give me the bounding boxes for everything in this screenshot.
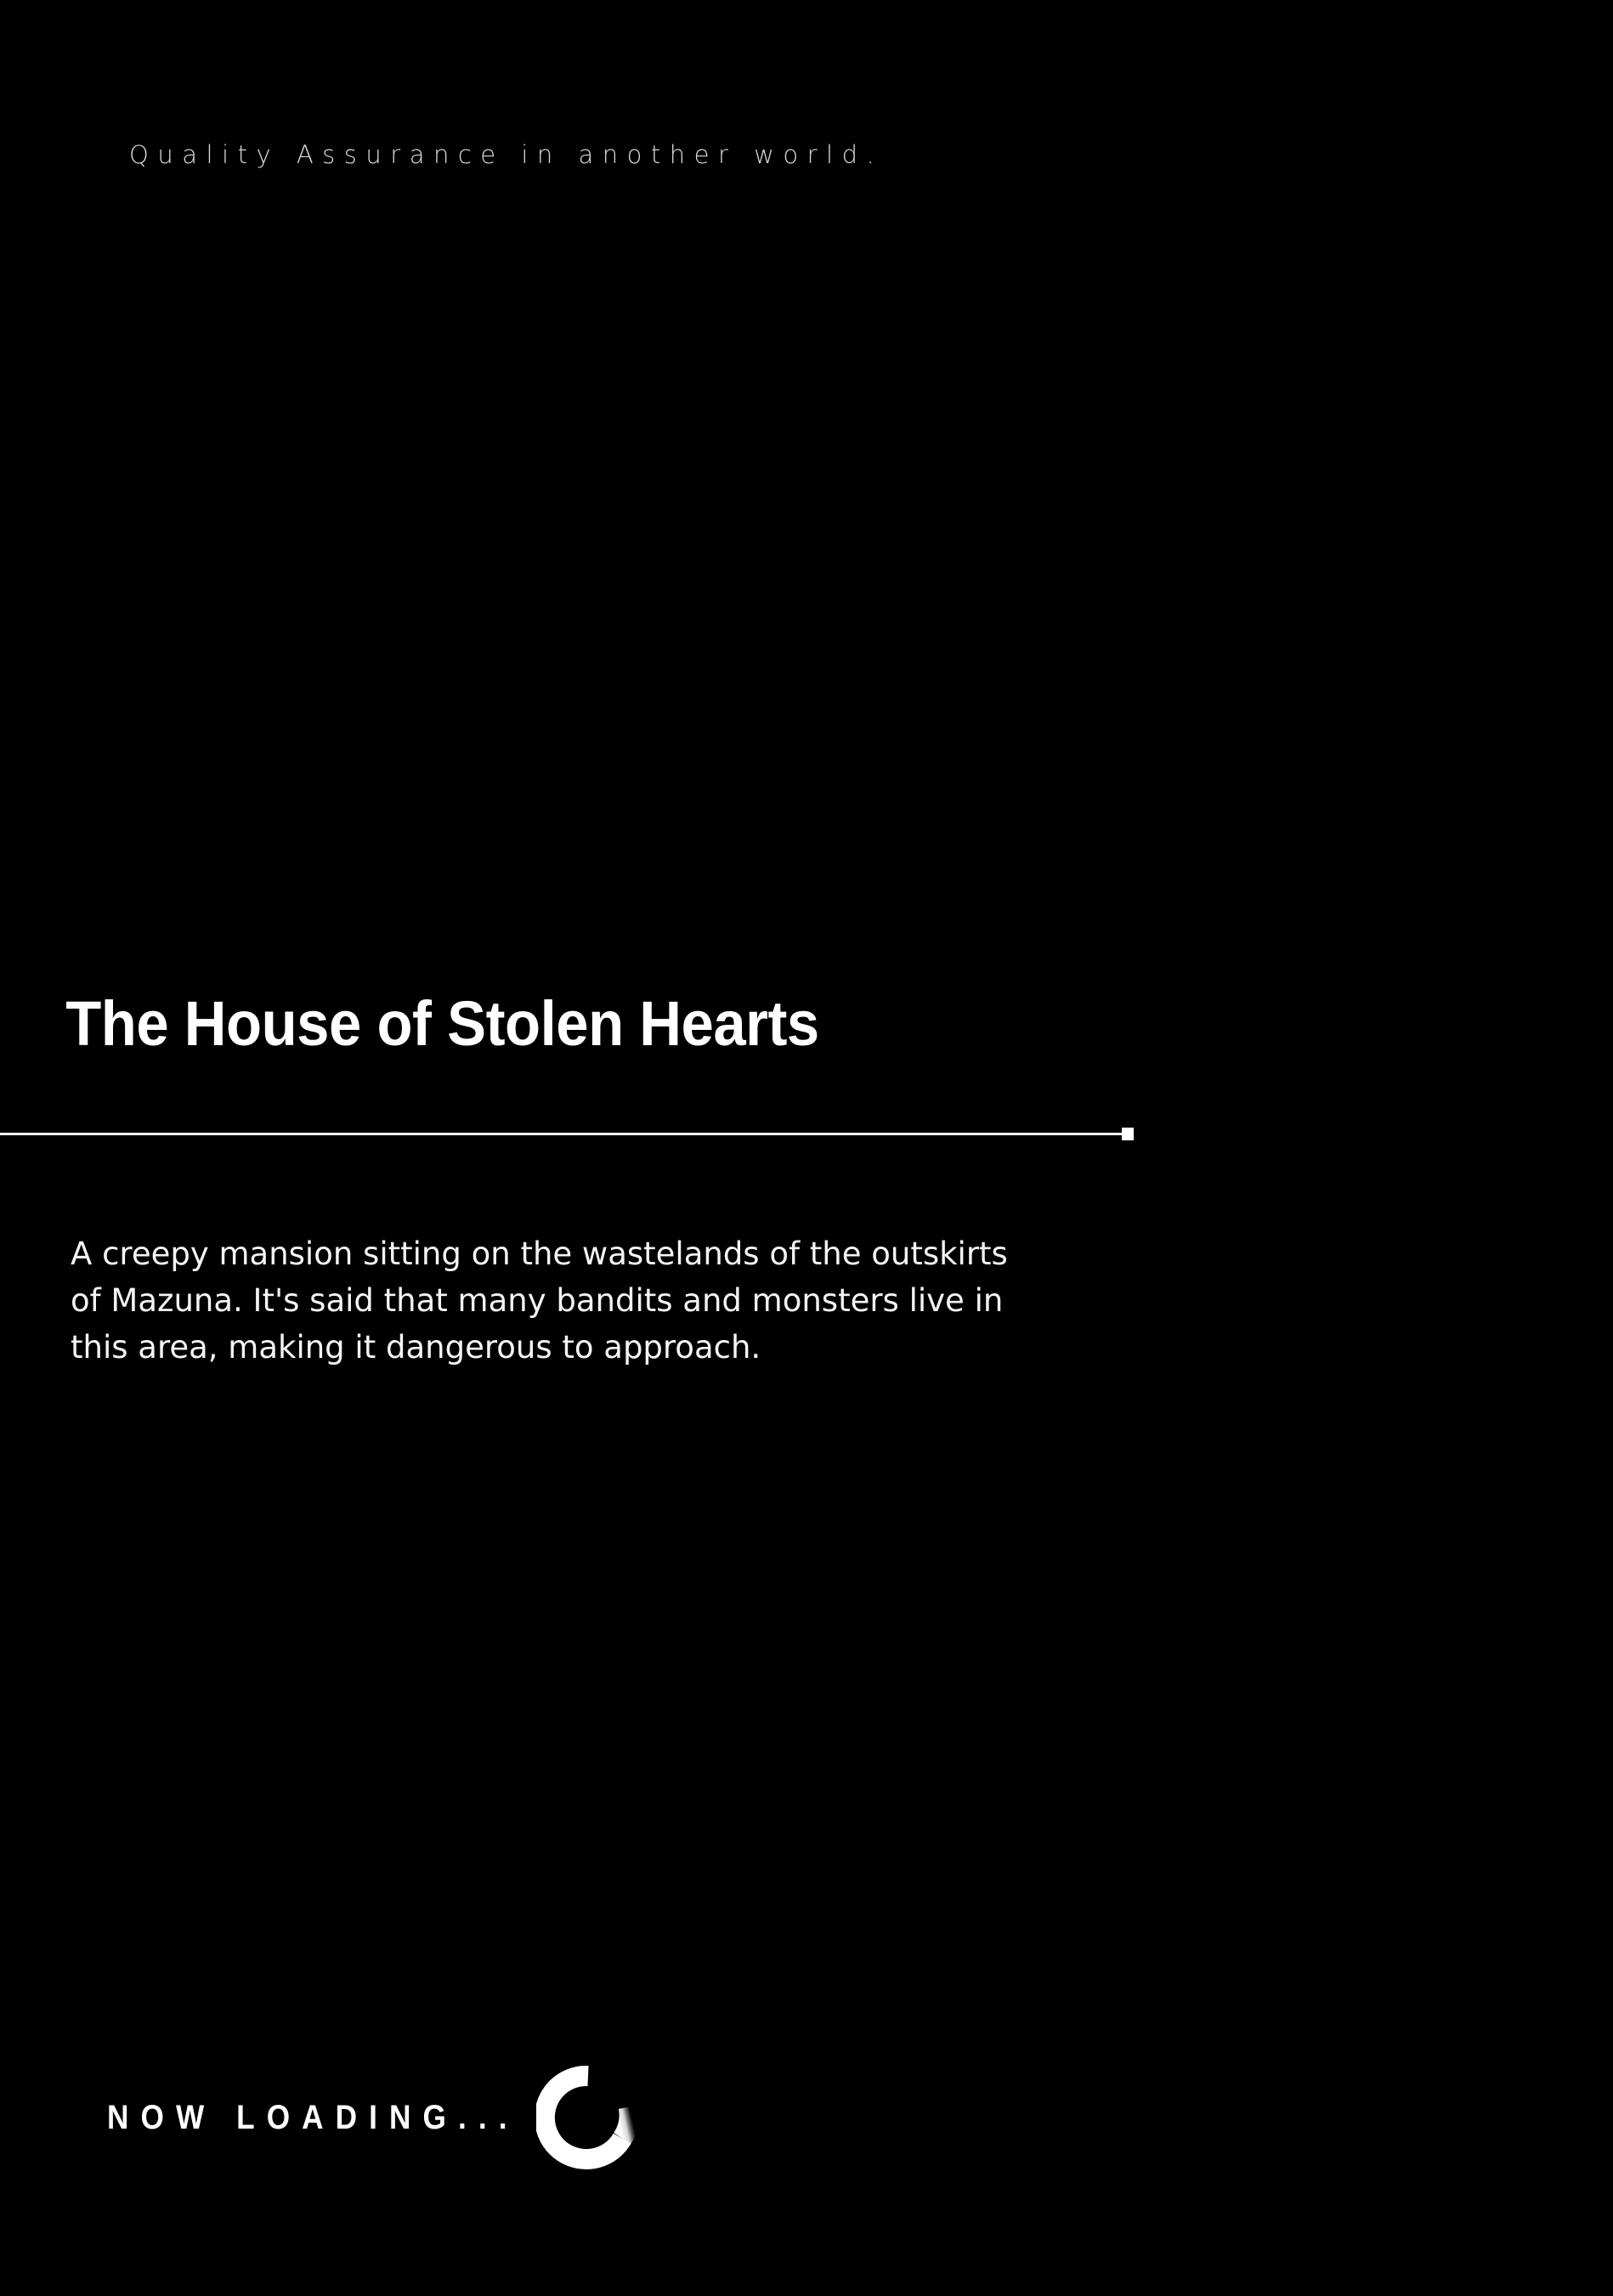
loading-screen: Quality Assurance in another world. The …	[0, 0, 1613, 2296]
game-tagline: Quality Assurance in another world.	[129, 143, 883, 167]
divider	[0, 1127, 1139, 1142]
page-title: The House of Stolen Hearts	[0, 986, 1500, 1062]
loading-spinner-icon	[536, 2066, 640, 2169]
loading-label: NOW LOADING...	[107, 2101, 519, 2135]
divider-line	[0, 1133, 1128, 1135]
area-title-block: The House of Stolen Hearts	[0, 986, 1613, 1062]
area-description: A creepy mansion sitting on the wastelan…	[71, 1230, 1010, 1371]
divider-end-cap	[1122, 1128, 1134, 1140]
loading-indicator: NOW LOADING...	[107, 2067, 640, 2169]
